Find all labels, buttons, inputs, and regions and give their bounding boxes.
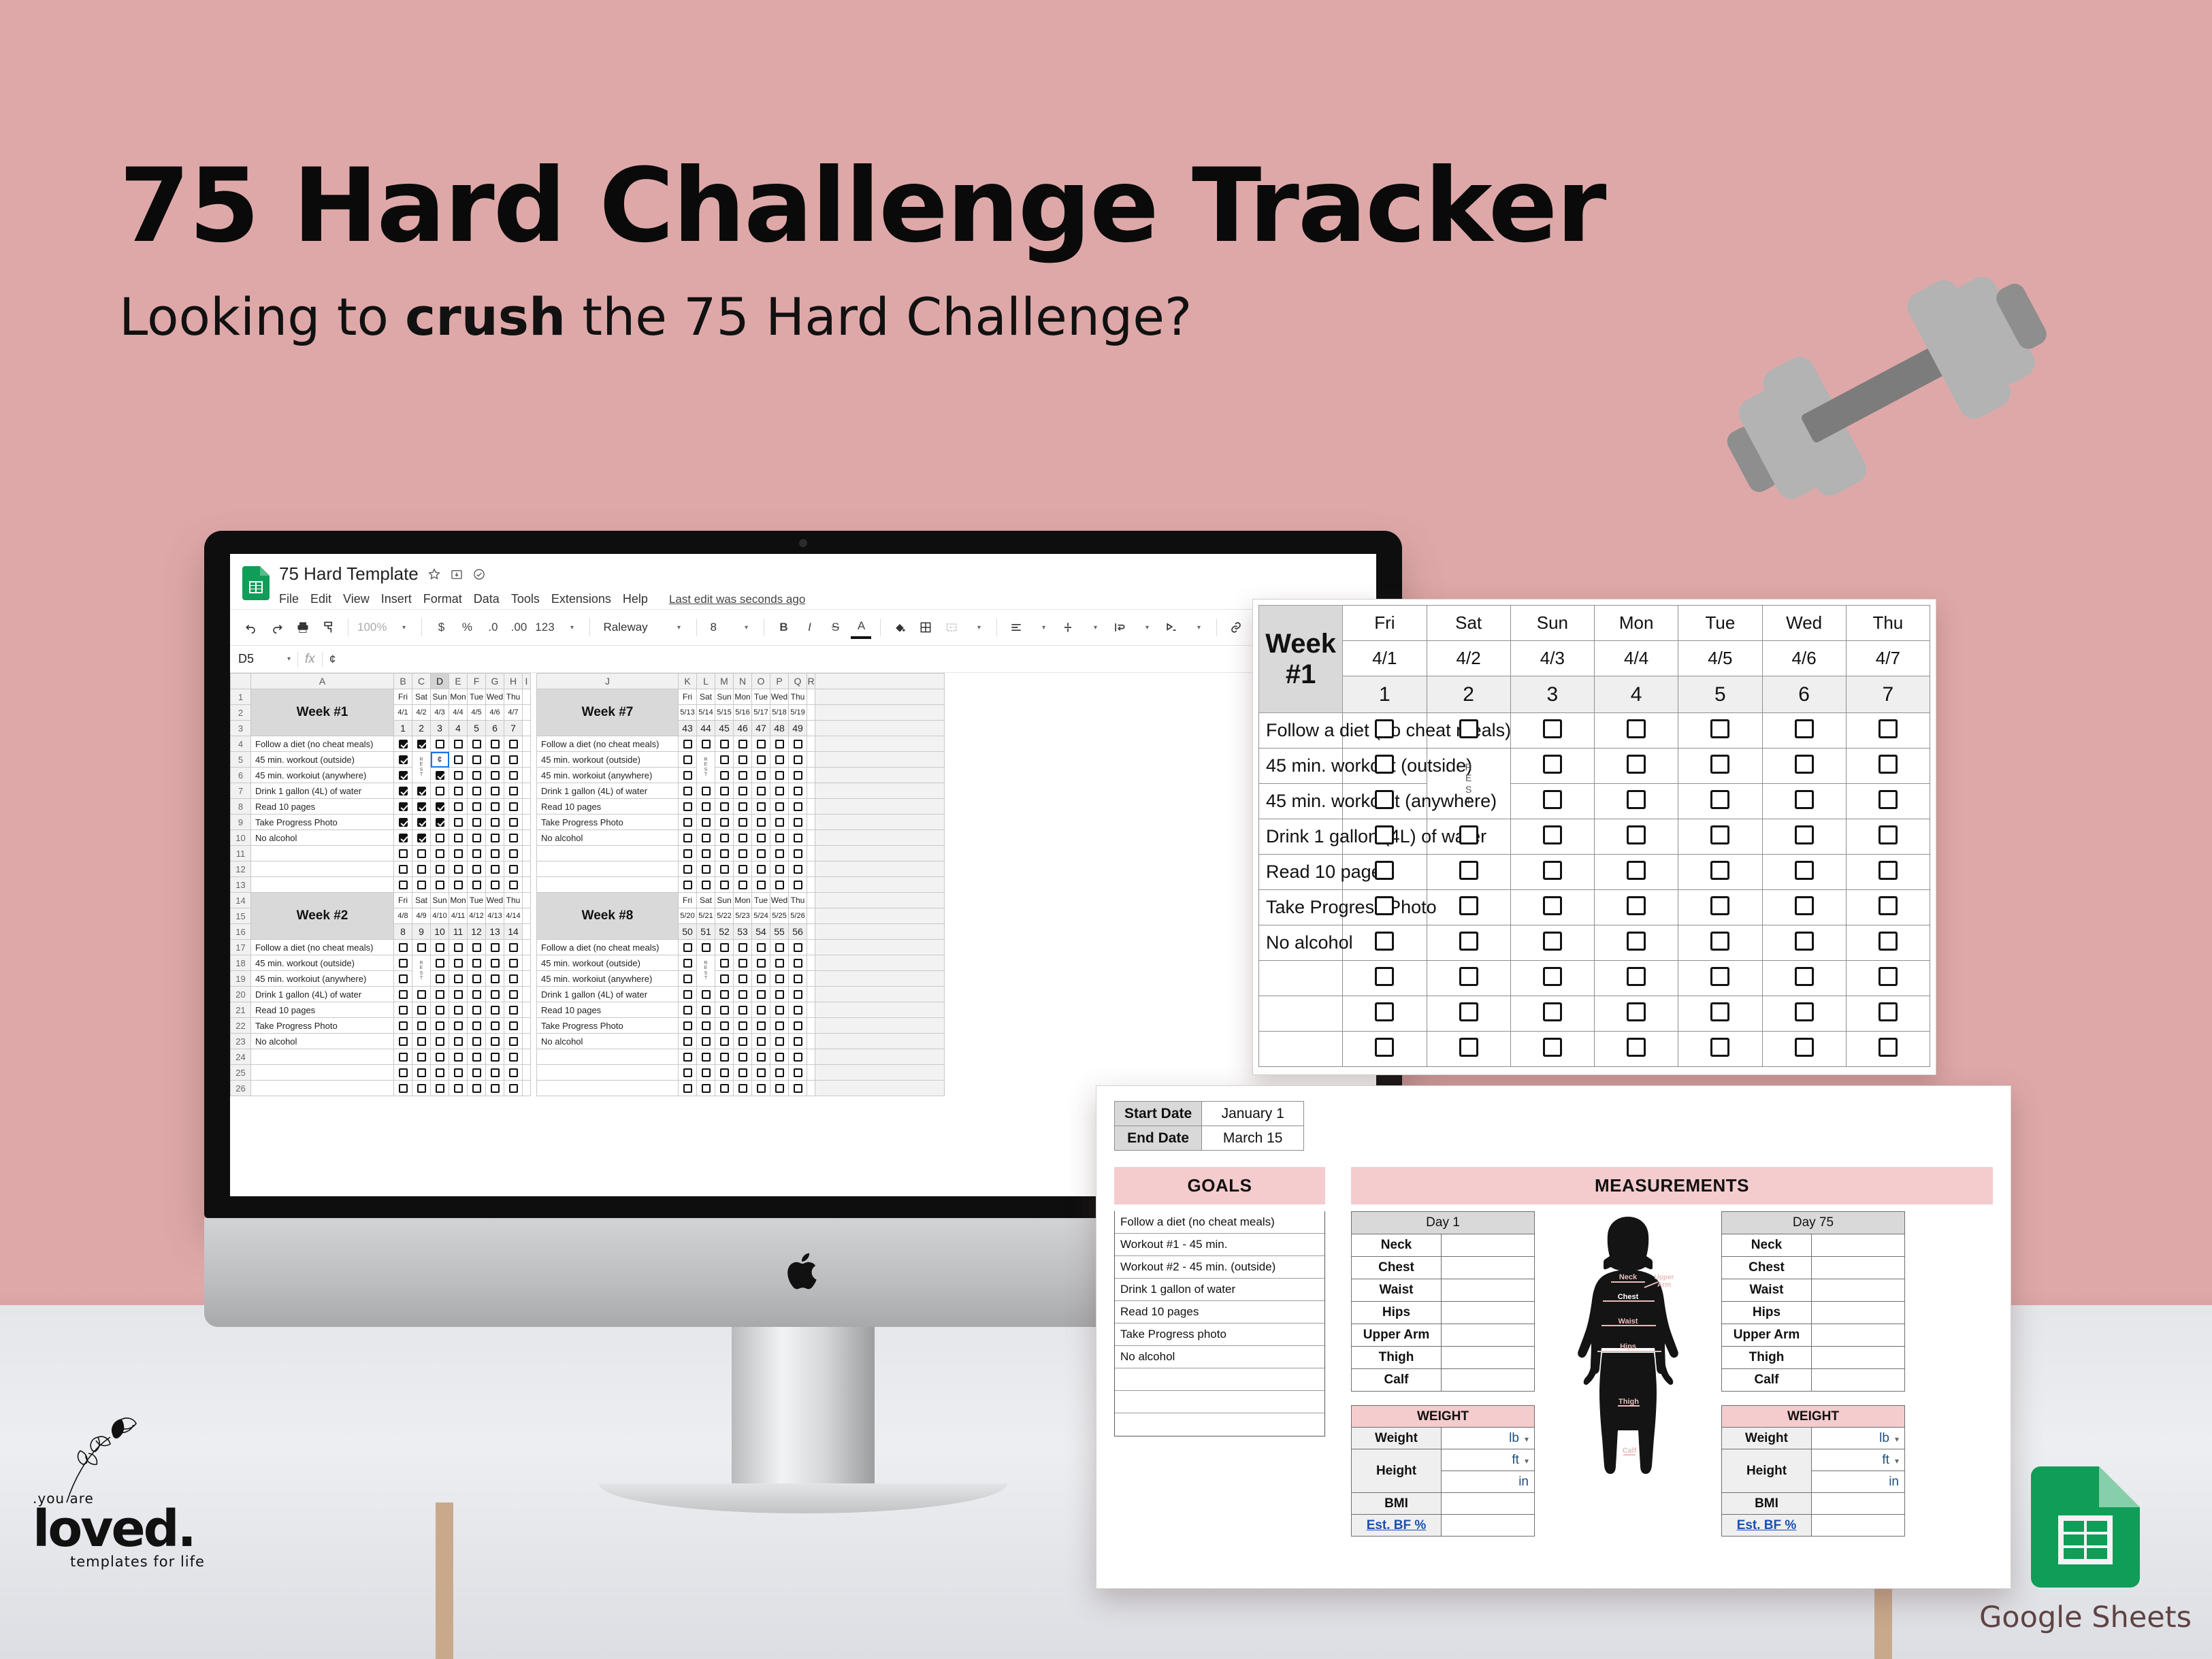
checkbox-cell[interactable] [468,1065,486,1081]
checkbox-cell[interactable] [486,799,504,815]
checkbox-icon[interactable] [683,771,692,780]
checkbox-cell[interactable] [770,1018,789,1034]
week-card-checkbox-cell[interactable] [1595,784,1678,819]
checkbox-icon[interactable] [738,834,747,842]
goal-item[interactable]: Read 10 pages [1115,1301,1324,1324]
checkbox-cell[interactable] [468,1049,486,1065]
checkbox-icon[interactable] [683,943,692,952]
checkbox-icon[interactable] [454,740,463,749]
checkbox-icon[interactable] [702,1068,711,1077]
checkbox-cell[interactable] [486,1034,504,1049]
checkbox-icon[interactable] [775,834,784,842]
move-to-folder-icon[interactable] [450,568,463,581]
checkbox-icon[interactable] [1375,719,1394,738]
checkbox-icon[interactable] [454,1053,463,1062]
checkbox-cell[interactable] [486,877,504,893]
week-card-checkbox-cell[interactable] [1678,784,1762,819]
checkbox-icon[interactable] [509,740,518,749]
goal-item[interactable]: Workout #2 - 45 min. (outside) [1115,1256,1324,1279]
checkbox-icon[interactable] [738,802,747,811]
checkbox-icon[interactable] [509,865,518,874]
checkbox-cell[interactable] [431,846,449,861]
checkbox-cell[interactable] [752,736,770,752]
goal-item[interactable] [1115,1413,1324,1436]
checkbox-cell[interactable] [715,1034,734,1049]
checkbox-icon[interactable] [1878,967,1898,986]
checkbox-cell[interactable] [486,1065,504,1081]
checkbox-icon[interactable] [775,755,784,764]
checkbox-icon[interactable] [1795,1002,1814,1021]
week-card-checkbox-cell[interactable] [1678,713,1762,749]
checkbox-icon[interactable] [1543,755,1562,774]
checkbox-cell[interactable] [449,1018,468,1034]
checkbox-icon[interactable] [454,943,463,952]
valign-chevron-down-icon[interactable]: ▾ [1084,616,1104,639]
checkbox-icon[interactable] [720,865,729,874]
checkbox-icon[interactable] [399,834,408,842]
week-card-checkbox-cell[interactable] [1846,996,1930,1032]
week-card-checkbox-cell[interactable] [1846,784,1930,819]
checkbox-icon[interactable] [738,959,747,968]
goal-item[interactable]: Workout #1 - 45 min. [1115,1234,1324,1256]
checkbox-icon[interactable] [472,802,481,811]
formula-input[interactable]: ¢ [329,653,336,666]
vertical-align-icon[interactable] [1058,616,1078,639]
task-label-cell[interactable]: Drink 1 gallon (4L) of water [251,987,394,1002]
checkbox-cell[interactable] [468,799,486,815]
checkbox-cell[interactable] [789,1049,807,1065]
task-label-cell[interactable] [537,861,679,877]
checkbox-icon[interactable] [1878,1002,1898,1021]
checkbox-cell[interactable] [394,987,412,1002]
checkbox-cell[interactable] [734,1002,752,1018]
task-label-cell[interactable]: Follow a diet (no cheat meals) [251,736,394,752]
checkbox-icon[interactable] [1878,755,1898,774]
checkbox-cell[interactable] [412,1065,431,1081]
checkbox-cell[interactable] [468,1002,486,1018]
checkbox-cell[interactable] [504,940,523,955]
week-card-checkbox-cell[interactable] [1595,749,1678,784]
checkbox-cell[interactable] [679,815,697,830]
checkbox-icon[interactable] [1459,1002,1478,1021]
week-card-checkbox-cell[interactable] [1762,855,1846,890]
checkbox-cell[interactable] [394,768,412,783]
checkbox-icon[interactable] [757,1053,766,1062]
measurement-value[interactable] [1812,1324,1905,1347]
checkbox-cell[interactable] [486,752,504,768]
checkbox-icon[interactable] [472,943,481,952]
strikethrough-button[interactable]: S [825,616,845,639]
week-card-checkbox-cell[interactable] [1762,713,1846,749]
checkbox-icon[interactable] [1878,790,1898,809]
checkbox-icon[interactable] [417,818,426,827]
checkbox-cell[interactable] [752,987,770,1002]
checkbox-cell[interactable] [789,971,807,987]
checkbox-cell[interactable] [504,1081,523,1096]
checkbox-cell[interactable] [449,799,468,815]
checkbox-cell[interactable] [697,1049,715,1065]
checkbox-icon[interactable] [1543,1038,1562,1057]
checkbox-icon[interactable] [454,959,463,968]
checkbox-icon[interactable] [1543,967,1562,986]
checkbox-icon[interactable] [775,1053,784,1062]
checkbox-icon[interactable] [757,834,766,842]
checkbox-cell[interactable] [697,1065,715,1081]
checkbox-icon[interactable] [794,1053,802,1062]
checkbox-icon[interactable] [436,740,444,749]
checkbox-cell[interactable] [697,877,715,893]
checkbox-cell[interactable] [734,1018,752,1034]
task-label-cell[interactable]: No alcohol [537,1034,679,1049]
checkbox-icon[interactable] [491,1021,500,1030]
task-label-cell[interactable] [251,877,394,893]
checkbox-icon[interactable] [1627,1038,1646,1057]
task-label-cell[interactable]: No alcohol [251,1034,394,1049]
checkbox-icon[interactable] [702,1006,711,1015]
checkbox-cell[interactable] [679,830,697,846]
checkbox-icon[interactable] [794,990,802,999]
checkbox-cell[interactable] [431,768,449,783]
checkbox-icon[interactable] [399,787,408,795]
checkbox-icon[interactable] [794,802,802,811]
checkbox-icon[interactable] [702,1021,711,1030]
week-card-checkbox-cell[interactable] [1427,961,1510,996]
checkbox-icon[interactable] [472,755,481,764]
checkbox-cell[interactable] [715,1081,734,1096]
redo-icon[interactable] [267,616,287,639]
task-label-cell[interactable] [537,877,679,893]
checkbox-cell[interactable] [449,783,468,799]
checkbox-cell[interactable] [504,1002,523,1018]
checkbox-icon[interactable] [399,849,408,858]
checkbox-cell[interactable] [468,940,486,955]
checkbox-cell[interactable] [734,846,752,861]
checkbox-icon[interactable] [509,818,518,827]
checkbox-icon[interactable] [472,881,481,889]
task-label-cell[interactable]: Read 10 pages [251,799,394,815]
checkbox-cell[interactable] [715,830,734,846]
checkbox-icon[interactable] [794,1084,802,1093]
checkbox-cell[interactable] [504,971,523,987]
checkbox-cell[interactable] [449,971,468,987]
checkbox-cell[interactable] [752,1049,770,1065]
checkbox-icon[interactable] [454,755,463,764]
week-card-checkbox-cell[interactable] [1510,749,1594,784]
checkbox-cell[interactable] [449,861,468,877]
checkbox-icon[interactable] [454,818,463,827]
checkbox-icon[interactable] [436,818,444,827]
checkbox-cell[interactable] [431,955,449,971]
checkbox-cell[interactable] [752,861,770,877]
checkbox-cell[interactable] [752,830,770,846]
checkbox-cell[interactable] [770,736,789,752]
checkbox-icon[interactable] [720,771,729,780]
checkbox-icon[interactable] [794,818,802,827]
checkbox-cell[interactable] [715,1002,734,1018]
checkbox-cell[interactable] [679,799,697,815]
checkbox-icon[interactable] [399,990,408,999]
checkbox-icon[interactable] [683,802,692,811]
checkbox-cell[interactable] [715,752,734,768]
checkbox-cell[interactable] [504,861,523,877]
checkbox-icon[interactable] [1375,790,1394,809]
checkbox-cell[interactable] [468,1018,486,1034]
checkbox-icon[interactable] [491,771,500,780]
checkbox-cell[interactable] [394,1018,412,1034]
task-label-cell[interactable]: No alcohol [537,830,679,846]
week-card-checkbox-cell[interactable] [1510,961,1594,996]
checkbox-cell[interactable] [504,752,523,768]
checkbox-cell[interactable] [734,940,752,955]
checkbox-cell[interactable] [431,987,449,1002]
checkbox-icon[interactable] [1627,896,1646,915]
checkbox-icon[interactable] [738,1084,747,1093]
checkbox-icon[interactable] [399,771,408,780]
task-label-cell[interactable] [537,846,679,861]
checkbox-icon[interactable] [509,834,518,842]
checkbox-icon[interactable] [1710,861,1729,880]
checkbox-icon[interactable] [1627,790,1646,809]
font-chevron-down-icon[interactable]: ▾ [667,616,687,639]
task-label-cell[interactable]: Drink 1 gallon (4L) of water [537,783,679,799]
checkbox-icon[interactable] [491,1053,500,1062]
checkbox-icon[interactable] [702,865,711,874]
fill-color-icon[interactable] [890,616,910,639]
checkbox-icon[interactable] [702,802,711,811]
checkbox-cell[interactable] [504,846,523,861]
checkbox-cell[interactable] [394,736,412,752]
checkbox-cell[interactable] [715,815,734,830]
checkbox-cell[interactable] [715,783,734,799]
cloud-status-icon[interactable] [472,568,486,581]
checkbox-cell[interactable] [504,1065,523,1081]
checkbox-icon[interactable] [794,740,802,749]
task-label-cell[interactable] [251,1065,394,1081]
checkbox-icon[interactable] [491,1006,500,1015]
checkbox-cell[interactable] [715,987,734,1002]
checkbox-icon[interactable] [399,818,408,827]
goal-item[interactable]: Take Progress photo [1115,1324,1324,1346]
checkbox-icon[interactable] [702,740,711,749]
checkbox-icon[interactable] [417,1021,426,1030]
checkbox-cell[interactable] [734,971,752,987]
checkbox-icon[interactable] [417,834,426,842]
checkbox-icon[interactable] [1878,719,1898,738]
menu-data[interactable]: Data [474,592,500,606]
checkbox-icon[interactable] [683,818,692,827]
checkbox-cell[interactable] [431,1049,449,1065]
checkbox-icon[interactable] [1795,932,1814,951]
checkbox-cell[interactable] [734,955,752,971]
checkbox-cell[interactable] [449,877,468,893]
checkbox-cell[interactable] [734,799,752,815]
checkbox-icon[interactable] [472,740,481,749]
week-card-checkbox-cell[interactable] [1595,713,1678,749]
chevron-down-icon[interactable]: ▾ [1895,1434,1899,1444]
checkbox-cell[interactable] [504,783,523,799]
checkbox-icon[interactable] [702,1037,711,1046]
checkbox-icon[interactable] [1375,1038,1394,1057]
checkbox-icon[interactable] [509,849,518,858]
checkbox-icon[interactable] [794,834,802,842]
goal-item[interactable] [1115,1391,1324,1413]
checkbox-cell[interactable] [468,783,486,799]
checkbox-cell[interactable] [486,768,504,783]
checkbox-icon[interactable] [702,990,711,999]
checkbox-icon[interactable] [472,990,481,999]
week-card-checkbox-cell[interactable] [1510,713,1594,749]
checkbox-icon[interactable] [509,787,518,795]
weight-value[interactable] [1442,1493,1535,1515]
checkbox-icon[interactable] [472,865,481,874]
measurement-value[interactable] [1812,1234,1905,1257]
checkbox-icon[interactable] [1878,1038,1898,1057]
checkbox-icon[interactable] [775,881,784,889]
checkbox-icon[interactable] [757,943,766,952]
week-card-checkbox-cell[interactable] [1678,961,1762,996]
checkbox-icon[interactable] [738,1006,747,1015]
checkbox-icon[interactable] [399,974,408,983]
checkbox-icon[interactable] [738,974,747,983]
checkbox-cell[interactable] [449,987,468,1002]
checkbox-cell[interactable] [394,955,412,971]
checkbox-icon[interactable] [472,771,481,780]
document-title[interactable]: 75 Hard Template [279,563,419,585]
est-bf-link[interactable]: Est. BF % [1737,1518,1797,1532]
checkbox-cell[interactable] [412,987,431,1002]
checkbox-cell[interactable] [412,830,431,846]
checkbox-cell[interactable] [752,768,770,783]
checkbox-icon[interactable] [436,834,444,842]
checkbox-cell[interactable] [468,987,486,1002]
task-label-cell[interactable]: 45 min. workoiut (anywhere) [537,971,679,987]
checkbox-icon[interactable] [454,990,463,999]
spreadsheet-grid[interactable]: ABCDEFGHIJKLMNOPQR1Week #1FriSatSunMonTu… [230,673,1376,1096]
checkbox-cell[interactable] [679,846,697,861]
checkbox-cell[interactable] [394,846,412,861]
checkbox-icon[interactable] [1459,825,1478,844]
checkbox-cell[interactable] [734,987,752,1002]
checkbox-cell[interactable] [770,1002,789,1018]
checkbox-icon[interactable] [1795,719,1814,738]
undo-icon[interactable] [241,616,261,639]
checkbox-icon[interactable] [1795,861,1814,880]
checkbox-cell[interactable] [752,1002,770,1018]
checkbox-icon[interactable] [720,787,729,795]
week-card-checkbox-cell[interactable] [1595,819,1678,855]
checkbox-icon[interactable] [436,1053,444,1062]
checkbox-cell[interactable] [770,1081,789,1096]
checkbox-cell[interactable] [734,752,752,768]
checkbox-cell[interactable] [789,799,807,815]
checkbox-icon[interactable] [454,881,463,889]
task-label-cell[interactable]: No alcohol [251,830,394,846]
checkbox-cell[interactable] [752,1018,770,1034]
checkbox-icon[interactable] [491,834,500,842]
checkbox-cell[interactable] [697,830,715,846]
checkbox-cell[interactable] [789,1018,807,1034]
checkbox-icon[interactable] [1627,719,1646,738]
checkbox-cell[interactable] [770,861,789,877]
checkbox-icon[interactable] [399,755,408,764]
checkbox-icon[interactable] [491,818,500,827]
star-icon[interactable] [427,568,441,581]
task-label-cell[interactable]: 45 min. workoiut (anywhere) [251,768,394,783]
week-card-checkbox-cell[interactable] [1343,996,1427,1032]
bold-button[interactable]: B [773,616,794,639]
checkbox-cell[interactable] [679,940,697,955]
checkbox-icon[interactable] [775,974,784,983]
checkbox-cell[interactable] [752,752,770,768]
checkbox-icon[interactable] [794,755,802,764]
checkbox-cell[interactable] [697,987,715,1002]
checkbox-icon[interactable] [683,740,692,749]
checkbox-icon[interactable] [454,1068,463,1077]
checkbox-cell[interactable] [486,987,504,1002]
checkbox-cell[interactable] [715,799,734,815]
checkbox-icon[interactable] [1627,932,1646,951]
checkbox-icon[interactable] [399,1084,408,1093]
checkbox-icon[interactable] [509,990,518,999]
borders-icon[interactable] [915,616,936,639]
checkbox-cell[interactable] [394,799,412,815]
task-label-cell[interactable] [537,1081,679,1096]
checkbox-cell[interactable] [394,1002,412,1018]
task-label-cell[interactable]: Drink 1 gallon (4L) of water [537,987,679,1002]
checkbox-icon[interactable] [491,740,500,749]
checkbox-cell[interactable] [752,783,770,799]
checkbox-icon[interactable] [757,1068,766,1077]
week-card-checkbox-cell[interactable] [1678,1032,1762,1067]
checkbox-icon[interactable] [775,740,784,749]
rotation-chevron-down-icon[interactable]: ▾ [1187,616,1207,639]
week-card-checkbox-cell[interactable] [1678,749,1762,784]
zoom-chevron-down-icon[interactable]: ▾ [392,616,412,639]
height-ft-value[interactable]: ft▾ [1442,1449,1535,1471]
week-card-checkbox-cell[interactable] [1678,855,1762,890]
checkbox-icon[interactable] [472,959,481,968]
menu-help[interactable]: Help [623,592,648,606]
checkbox-icon[interactable] [436,1006,444,1015]
menu-insert[interactable]: Insert [381,592,412,606]
height-ft-value[interactable]: ft▾ [1812,1449,1905,1471]
checkbox-icon[interactable] [738,1037,747,1046]
checkbox-icon[interactable] [720,943,729,952]
checkbox-icon[interactable] [509,881,518,889]
checkbox-icon[interactable] [436,881,444,889]
checkbox-cell[interactable] [394,971,412,987]
checkbox-cell[interactable] [679,971,697,987]
menu-file[interactable]: File [279,592,299,606]
checkbox-icon[interactable] [436,1084,444,1093]
week-card-checkbox-cell[interactable] [1595,961,1678,996]
week-card-checkbox-cell[interactable] [1678,925,1762,961]
checkbox-icon[interactable] [1795,755,1814,774]
checkbox-icon[interactable] [794,1006,802,1015]
checkbox-cell[interactable] [715,1065,734,1081]
checkbox-icon[interactable] [720,959,729,968]
checkbox-cell[interactable] [734,1049,752,1065]
checkbox-cell[interactable] [752,815,770,830]
task-label-cell[interactable] [251,1049,394,1065]
checkbox-icon[interactable] [1795,825,1814,844]
task-label-cell[interactable]: 45 min. workout (outside) [537,955,679,971]
checkbox-icon[interactable] [738,849,747,858]
decrease-decimal-button[interactable]: .0 [483,616,503,639]
checkbox-cell[interactable] [486,1018,504,1034]
checkbox-cell[interactable] [486,736,504,752]
checkbox-icon[interactable] [720,1037,729,1046]
